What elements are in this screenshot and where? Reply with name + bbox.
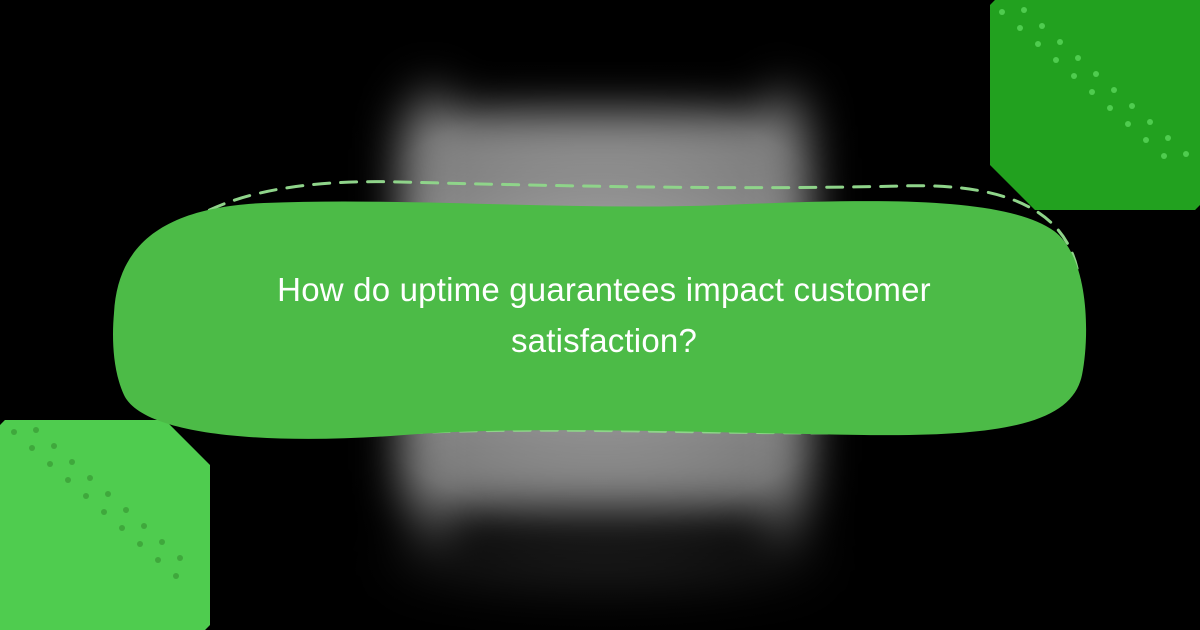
corner-decoration-top-right [990, 0, 1200, 210]
page-title: How do uptime guarantees impact customer… [274, 185, 934, 445]
corner-wedge-top-right [990, 0, 1200, 210]
social-card: How do uptime guarantees impact customer… [0, 0, 1200, 630]
headline-callout: How do uptime guarantees impact customer… [104, 185, 1096, 445]
corner-decoration-bottom-left [0, 420, 210, 630]
corner-wedge-bottom-left [0, 420, 210, 630]
